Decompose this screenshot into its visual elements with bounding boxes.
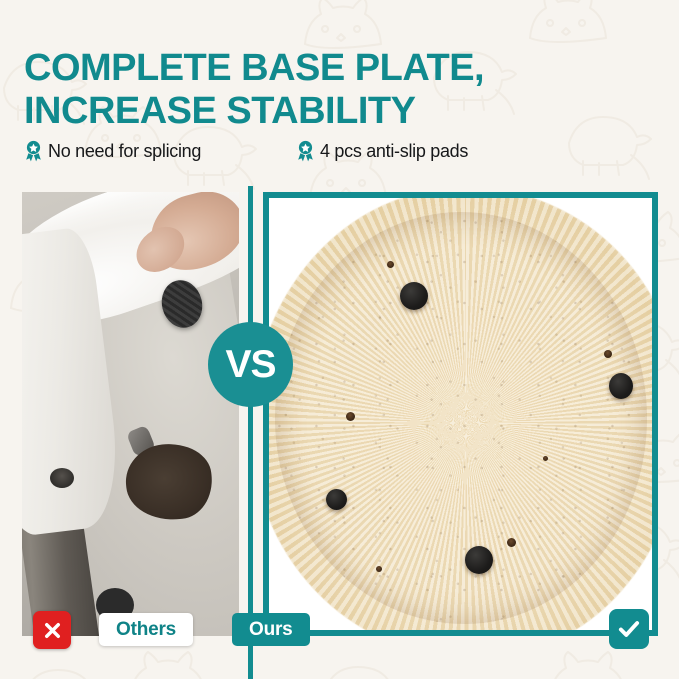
anti-slip-pad — [326, 489, 347, 510]
feature-bullet-0: No need for splicing — [24, 140, 201, 162]
others-panel-photo — [22, 192, 239, 636]
anti-slip-pad — [400, 282, 428, 310]
headline-line-2: INCREASE STABILITY — [24, 90, 654, 133]
screw-hole — [507, 538, 516, 547]
screw-hole — [50, 468, 74, 488]
mdf-texture-overlay — [275, 212, 647, 624]
screw-hole — [604, 350, 612, 358]
headline-line-1: COMPLETE BASE PLATE, — [24, 47, 484, 89]
anti-slip-pad — [465, 546, 493, 574]
anti-slip-pad — [609, 373, 633, 399]
screw-hole — [387, 261, 394, 268]
vs-divider-line — [248, 186, 253, 679]
feature-bullet-1: 4 pcs anti-slip pads — [296, 140, 468, 162]
cross-icon — [33, 611, 71, 649]
award-medal-icon — [24, 140, 43, 162]
screw-hole — [543, 456, 548, 461]
screw-hole — [376, 566, 382, 572]
comparison-section — [0, 180, 679, 660]
ours-label-pill: Ours — [232, 613, 310, 646]
ours-scene — [269, 198, 652, 630]
ours-panel-frame — [263, 192, 658, 636]
others-label-pill: Others — [99, 613, 193, 646]
award-medal-icon — [296, 140, 315, 162]
ours-panel-photo — [269, 198, 652, 630]
vs-badge: VS — [208, 322, 293, 407]
feature-bullet-label-1: 4 pcs anti-slip pads — [320, 141, 468, 162]
check-icon — [609, 609, 649, 649]
others-scene — [22, 192, 239, 636]
screw-hole — [346, 412, 355, 421]
feature-bullet-label-0: No need for splicing — [48, 141, 201, 162]
page-title: COMPLETE BASE PLATE, INCREASE STABILITY — [24, 47, 654, 133]
product-comparison-image: COMPLETE BASE PLATE, INCREASE STABILITY … — [0, 0, 679, 679]
feature-bullet-list: No need for splicing 4 pcs anti-slip pad… — [24, 140, 664, 168]
